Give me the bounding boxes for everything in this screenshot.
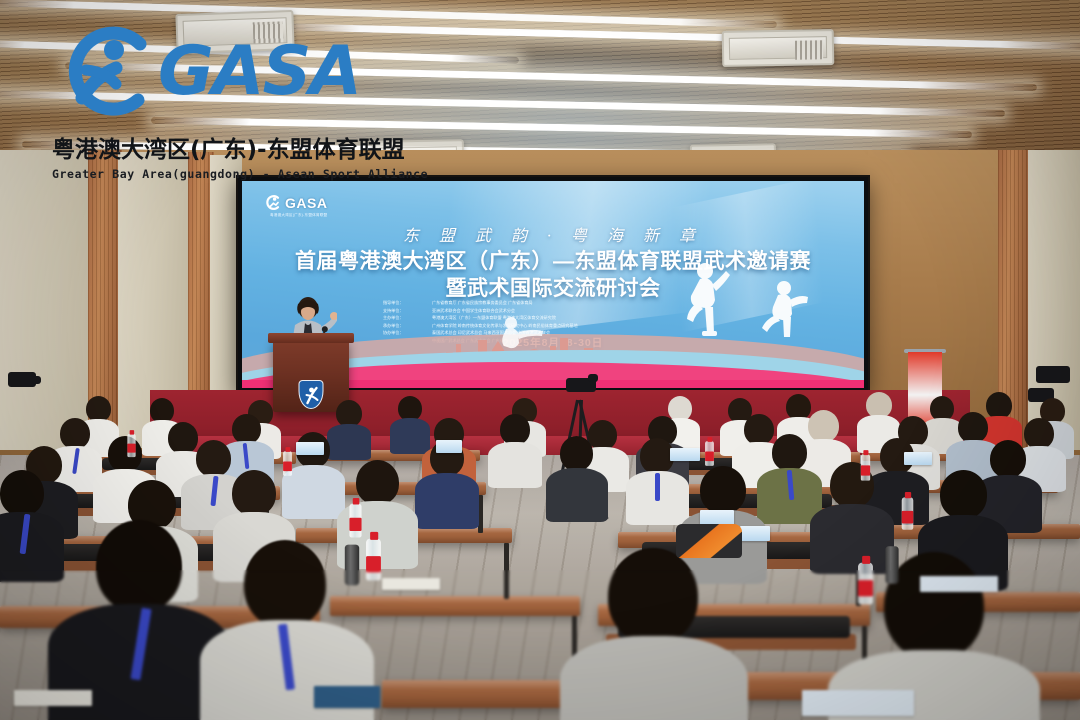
lanyard bbox=[655, 473, 660, 501]
slide-gasa-logo: GASA 粤港澳大湾区(广东)-东盟体育联盟 bbox=[264, 194, 327, 211]
document-paper bbox=[14, 690, 92, 706]
camera-lens bbox=[32, 376, 41, 384]
name-card bbox=[904, 452, 932, 465]
water-bottle bbox=[349, 503, 361, 537]
name-card bbox=[296, 442, 324, 455]
organizer-label: 主办单位： bbox=[383, 314, 425, 322]
ac-cassette-unit bbox=[722, 29, 835, 67]
tablet-device bbox=[314, 686, 380, 708]
document-paper bbox=[920, 576, 998, 592]
thermos-flask bbox=[345, 545, 359, 586]
speaker-podium bbox=[273, 340, 349, 412]
slide-logo-subtitle: 粤港澳大湾区(广东)-东盟体育联盟 bbox=[270, 213, 327, 218]
organizer-label: 指导单位： bbox=[383, 299, 425, 307]
ac-cassette-unit bbox=[175, 10, 294, 54]
slide-headline-line1: 首届粤港澳大湾区（广东）—东盟体育联盟武术邀请赛 bbox=[242, 245, 864, 275]
conference-photo: GASA 粤港澳大湾区(广东)-东盟体育联盟 东 盟 武 韵 · 粤 海 新 章… bbox=[0, 0, 1080, 720]
water-bottle bbox=[861, 454, 870, 480]
water-bottle bbox=[127, 434, 135, 457]
water-bottle bbox=[283, 451, 292, 476]
emblem-figure-icon bbox=[300, 381, 325, 410]
document-paper bbox=[802, 690, 914, 716]
sport-shield-emblem bbox=[299, 380, 324, 409]
camera-body bbox=[1036, 366, 1070, 383]
slide-logo-wordmark: GASA bbox=[285, 195, 327, 211]
desk-leg bbox=[504, 543, 509, 599]
name-card bbox=[670, 448, 700, 461]
slide-calligraphy-subtitle: 东 盟 武 韵 · 粤 海 新 章 bbox=[242, 222, 864, 246]
document-paper bbox=[382, 578, 440, 590]
water-bottle bbox=[858, 563, 873, 605]
organizer-value: 广东省教育厅 广东省民族宗教事务委员会 广东省体育局 bbox=[432, 299, 533, 307]
martial-artist-silhouette bbox=[754, 277, 816, 339]
gasa-running-figure-icon bbox=[264, 194, 281, 211]
camera-lens bbox=[588, 374, 598, 382]
organizer-label: 承办单位： bbox=[383, 322, 425, 330]
martial-artist-silhouette bbox=[672, 259, 730, 337]
organizer-label: 支持单位： bbox=[383, 307, 425, 315]
name-card bbox=[436, 440, 462, 453]
water-bottle bbox=[366, 539, 381, 581]
martial-artist-silhouette bbox=[497, 309, 547, 353]
water-bottle bbox=[705, 441, 714, 466]
water-bottle bbox=[902, 497, 914, 530]
podium-top-surface bbox=[268, 333, 354, 343]
desk bbox=[330, 596, 580, 616]
orange-black-bag bbox=[676, 524, 742, 558]
name-card bbox=[740, 526, 770, 541]
